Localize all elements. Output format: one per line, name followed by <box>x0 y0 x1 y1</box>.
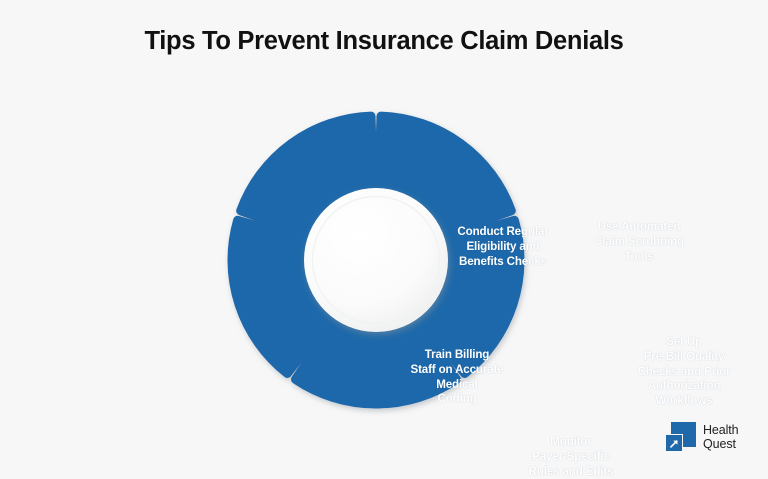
donut-segment-label-monitor-payer-specific-rules-and-edits: Monitor Payer-Specific Rules and Edits <box>496 435 646 479</box>
donut-segment-label-set-up-pre-bill-quality-checks: Set Up Pre-Bill Quality Checks and Prior… <box>620 335 748 409</box>
donut-segment-label-conduct-regular-eligibility-and-benefits-checks: Conduct Regular Eligibility and Benefits… <box>427 225 579 269</box>
arrow-up-right-icon <box>669 438 680 449</box>
donut-chart: Use Automated Claim Scrubbing Tools Set … <box>196 80 556 440</box>
donut-segment-label-train-billing-staff-on-accurate-medical-coding: Train Billing Staff on Accurate Medical … <box>389 348 525 407</box>
infographic-canvas: Tips To Prevent Insurance Claim Denials <box>0 0 768 475</box>
brand-logo[interactable]: Health Quest <box>665 415 761 459</box>
logo-mark <box>665 421 697 453</box>
donut-segment-label-use-automated-claim-scrubbing-tools: Use Automated Claim Scrubbing Tools <box>571 220 707 264</box>
logo-text: Health Quest <box>703 423 739 452</box>
page-title: Tips To Prevent Insurance Claim Denials <box>0 26 768 57</box>
